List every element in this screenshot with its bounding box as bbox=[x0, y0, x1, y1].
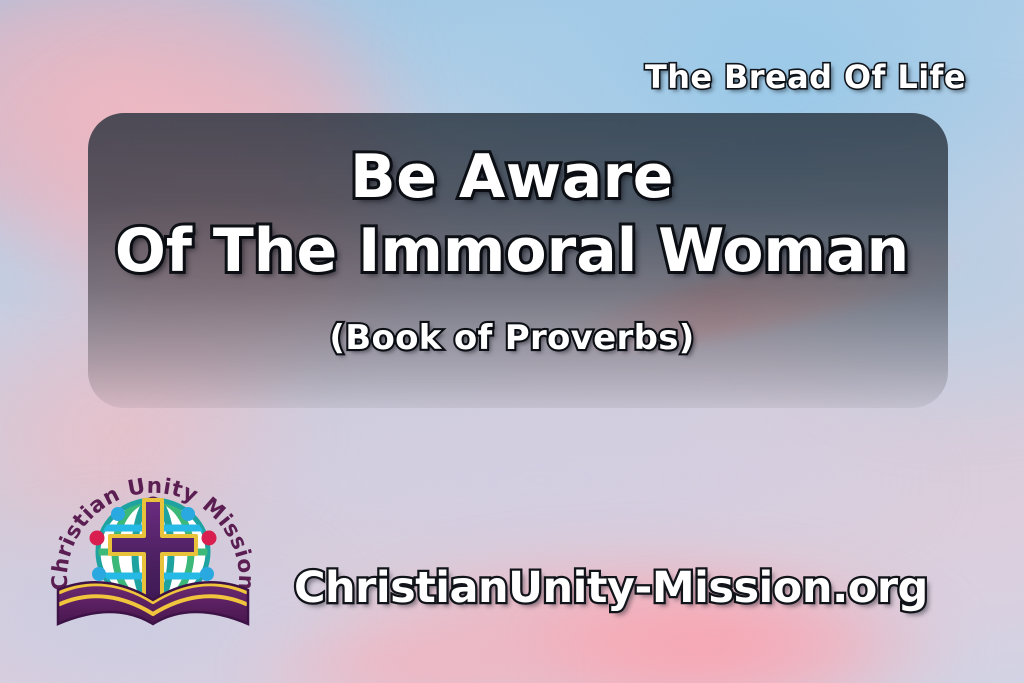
christian-unity-mission-logo[interactable]: Christian Unity Mission bbox=[46, 464, 260, 636]
sermon-banner: The Bread Of Life Be Aware Of The Immora… bbox=[0, 0, 1024, 683]
website-url[interactable]: ChristianUnity-Mission.org bbox=[294, 563, 928, 613]
title-line-2: Of The Immoral Woman bbox=[0, 214, 1024, 288]
title-block: Be Aware Of The Immoral Woman bbox=[0, 140, 1024, 288]
title-line-1: Be Aware bbox=[0, 140, 1024, 214]
title-subtitle: (Book of Proverbs) bbox=[0, 318, 1024, 358]
series-header: The Bread Of Life bbox=[645, 58, 966, 96]
